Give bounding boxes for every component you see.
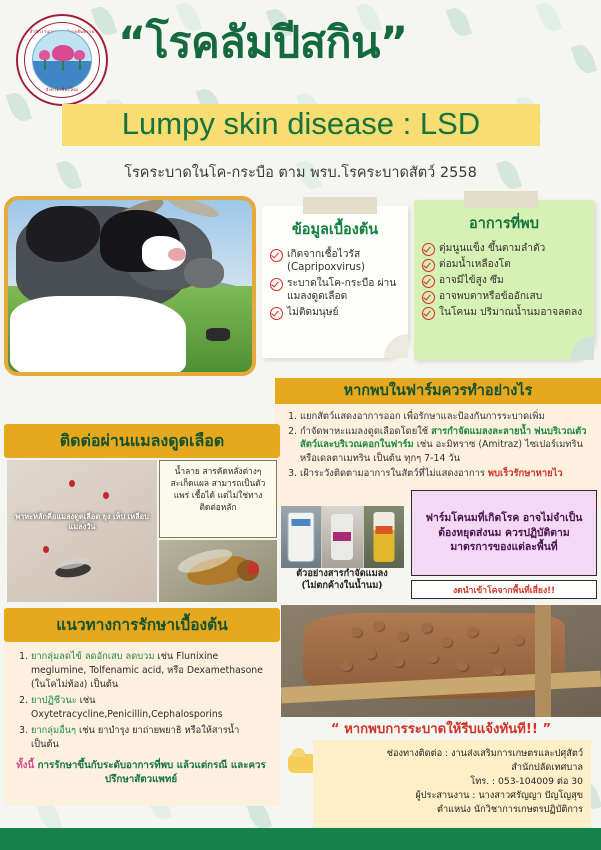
insecticide-bottle-icon bbox=[288, 512, 315, 562]
basic-info-heading: ข้อมูลเบื้องต้น bbox=[262, 218, 408, 241]
cattle-skin-fly-photo: พาหะหลักคือแมลงดูดเลือด ยุง เห็บ เหลือบ … bbox=[7, 460, 157, 602]
treatment-body: ยากลุ่มลดไข้ ลดอักเสบ ลดบวม เช่น Flunixi… bbox=[4, 642, 280, 806]
drug-group-label: ยากลุ่มลดไข้ ลดอักเสบ ลดบวม bbox=[31, 651, 154, 662]
list-item: ยาปฏิชีวนะ เช่น Oxytetracycline,Penicill… bbox=[31, 694, 270, 722]
step-tail: พบเร็วรักษาหายไว bbox=[488, 468, 563, 479]
list-item: ไม่ติดมนุษย์ bbox=[270, 306, 400, 319]
contact-line-4: ผู้ประสานงาน : นางสาวศรัญญา ปัญโญสุข bbox=[319, 789, 583, 803]
infographic-poster: สำนักงานเทศบาลตำบลสันทราย จังหวัดเชียงให… bbox=[0, 0, 601, 850]
insecticide-bottle-icon bbox=[373, 512, 394, 562]
list-item: ในโคนม ปริมาณน้ำนมอาจลดลง bbox=[422, 306, 586, 319]
tape-strip-icon bbox=[464, 191, 538, 208]
list-item-label: อาจมีไข้สูง ซึม bbox=[439, 275, 504, 286]
page-subtitle: โรคระบาดในโค-กระบือ ตาม พรบ.โรคระบาดสัตว… bbox=[0, 161, 601, 184]
list-item: อาจพบตาหรือข้ออักเสบ bbox=[422, 290, 586, 303]
skin-photo-caption: พาหะหลักคือแมลงดูดเลือด ยุง เห็บ เหลือบ … bbox=[11, 512, 153, 532]
list-item-label: อาจพบตาหรือข้ออักเสบ bbox=[439, 291, 542, 302]
drug-group-label: ยาปฏิชีวนะ bbox=[31, 695, 77, 706]
basic-info-card: ข้อมูลเบื้องต้น เกิดจากเชื้อไวรัส (Capri… bbox=[262, 206, 408, 358]
symptoms-heading: อาการที่พบ bbox=[414, 212, 594, 235]
check-circle-icon bbox=[422, 291, 435, 304]
milk-farm-warning-box: ฟาร์มโคนมที่เกิดโรค อาจไม่จำเป็นต้องหยุด… bbox=[411, 490, 597, 576]
tape-strip-icon bbox=[303, 197, 377, 214]
footnote-text: การรักษาขึ้นกับระดับอาการที่พบ แล้วแต่กร… bbox=[38, 760, 266, 785]
contact-value: งานส่งเสริมการเกษตรและปศุสัตว์ bbox=[448, 748, 583, 759]
list-item-label: ต่อมน้ำเหลืองโต bbox=[439, 259, 511, 270]
symptoms-card: อาการที่พบ ตุ่มนูนแข็ง ขึ้นตามลำตัว ต่อม… bbox=[414, 200, 594, 360]
step-text: กำจัดพาหะแมลงดูดเลือดโดยใช้ bbox=[300, 426, 431, 437]
import-ban-warning-strip: งดนำเข้าโคจากพื้นที่เสี่ยง!! bbox=[411, 580, 597, 599]
seal-bottom-text: จังหวัดเชียงใหม่ bbox=[25, 86, 99, 93]
insecticide-bottle-icon bbox=[331, 514, 353, 560]
folded-corner bbox=[384, 334, 408, 358]
page-title-thai: “โรคลัมปีสกิน” bbox=[118, 22, 588, 65]
check-circle-icon bbox=[422, 259, 435, 272]
list-item-label: ระบาดในโค-กระบือ ผ่านแมลงดูดเลือด bbox=[287, 278, 396, 302]
english-title-banner: Lumpy skin disease : LSD bbox=[62, 104, 540, 146]
lotus-icon bbox=[52, 45, 74, 61]
lotus-icon bbox=[74, 50, 85, 60]
list-item: เกิดจากเชื้อไวรัส (Capripoxvirus) bbox=[270, 248, 400, 274]
insect-transmission-block: พาหะหลักคือแมลงดูดเลือด ยุง เห็บ เหลือบ … bbox=[4, 458, 280, 604]
list-item: ยากลุ่มลดไข้ ลดอักเสบ ลดบวม เช่น Flunixi… bbox=[31, 650, 270, 692]
list-item: ต่อมน้ำเหลืองโต bbox=[422, 258, 586, 271]
step-text: แยกสัตว์แสดงอาการออก เพื่อรักษาและป้องกั… bbox=[300, 411, 545, 422]
buffalo-and-cow-photo bbox=[4, 196, 256, 376]
list-item: ยากลุ่มอื่นๆ เช่น ยาบำรุง ยาถ่ายพยาธิ หร… bbox=[31, 724, 270, 752]
poster-header: สำนักงานเทศบาลตำบลสันทราย จังหวัดเชียงให… bbox=[0, 0, 601, 186]
dairy-cow-illustration bbox=[10, 296, 186, 376]
coordinator-name: นางสาวศรัญญา ปัญโญสุข bbox=[475, 790, 583, 801]
list-item: ระบาดในโค-กระบือ ผ่านแมลงดูดเลือด bbox=[270, 277, 400, 303]
farm-guidance-list: แยกสัตว์แสดงอาการออก เพื่อรักษาและป้องกั… bbox=[284, 410, 594, 480]
contact-line-2: สำนักปลัดเทศบาล bbox=[319, 761, 583, 775]
check-circle-icon bbox=[270, 249, 283, 262]
insecticide-sample-caption: ตัวอย่างสารกำจัดแมลง (ไม่ตกค้างในน้ำนม) bbox=[276, 568, 408, 592]
saliva-transmission-note: น้ำลาย สารคัดหลั่งต่างๆ สะเก็ดแผล สามารถ… bbox=[159, 460, 277, 538]
treatment-heading: แนวทางการรักษาเบื้องต้น bbox=[4, 608, 280, 642]
check-circle-icon bbox=[422, 275, 435, 288]
list-item-label: ไม่ติดมนุษย์ bbox=[287, 307, 338, 318]
contact-label: ช่องทางติดต่อ : bbox=[387, 748, 448, 759]
check-circle-icon bbox=[270, 278, 283, 291]
insect-transmission-heading: ติดต่อผ่านแมลงดูดเลือด bbox=[4, 424, 280, 458]
basic-info-list: เกิดจากเชื้อไวรัส (Capripoxvirus) ระบาดใ… bbox=[262, 248, 408, 319]
list-item-label: เกิดจากเชื้อไวรัส (Capripoxvirus) bbox=[287, 249, 365, 273]
treatment-footnote: ทั้งนี้ การรักษาขึ้นกับระดับอาการที่พบ แ… bbox=[12, 759, 270, 787]
step-text: เฝ้าระวังติดตามอาการในสัตว์ที่ไม่แสดงอาก… bbox=[300, 468, 488, 479]
contact-info-box: ช่องทางติดต่อ : งานส่งเสริมการเกษตรและปศ… bbox=[313, 740, 591, 828]
check-circle-icon bbox=[422, 243, 435, 256]
farm-guidance-heading: หากพบในฟาร์มควรทำอย่างไร bbox=[275, 378, 601, 404]
footnote-prefix: ทั้งนี้ bbox=[16, 760, 37, 771]
list-item: อาจมีไข้สูง ซึม bbox=[422, 274, 586, 287]
caption-line-2: (ไม่ตกค้างในน้ำนม) bbox=[276, 580, 408, 592]
folded-corner bbox=[570, 336, 594, 360]
contact-line-1: ช่องทางติดต่อ : งานส่งเสริมการเกษตรและปศ… bbox=[319, 747, 583, 761]
report-outbreak-headline: “ หากพบการระบาดให้รีบแจ้งทันที!! ” bbox=[281, 718, 601, 739]
list-item: แยกสัตว์แสดงอาการออก เพื่อรักษาและป้องกั… bbox=[300, 410, 594, 424]
treatment-list: ยากลุ่มลดไข้ ลดอักเสบ ลดบวม เช่น Flunixi… bbox=[12, 650, 270, 752]
lotus-icon bbox=[39, 50, 50, 60]
coordinator-position: ตำแหน่ง นักวิชาการเกษตรปฏิบัติการ bbox=[319, 803, 583, 817]
check-circle-icon bbox=[422, 307, 435, 320]
list-item: กำจัดพาหะแมลงดูดเลือดโดยใช้ สารกำจัดแมลง… bbox=[300, 425, 594, 466]
stable-fly-closeup-photo bbox=[159, 540, 277, 602]
list-item-label: ตุ่มนูนแข็ง ขึ้นตามลำตัว bbox=[439, 243, 545, 254]
seal-emblem bbox=[32, 30, 92, 90]
list-item: ตุ่มนูนแข็ง ขึ้นตามลำตัว bbox=[422, 242, 586, 255]
municipality-seal-logo: สำนักงานเทศบาลตำบลสันทราย จังหวัดเชียงให… bbox=[16, 14, 108, 106]
insecticide-sample-photos bbox=[281, 506, 404, 568]
drug-group-label: ยากลุ่มอื่นๆ bbox=[31, 725, 76, 736]
caption-line-1: ตัวอย่างสารกำจัดแมลง bbox=[276, 568, 408, 580]
page-title-english: Lumpy skin disease : LSD bbox=[62, 107, 540, 141]
symptoms-list: ตุ่มนูนแข็ง ขึ้นตามลำตัว ต่อมน้ำเหลืองโต… bbox=[414, 242, 594, 319]
check-circle-icon bbox=[270, 307, 283, 320]
coordinator-label: ผู้ประสานงาน : bbox=[415, 790, 475, 801]
list-item-label: ในโคนม ปริมาณน้ำนมอาจลดลง bbox=[439, 307, 582, 318]
fly-eye bbox=[247, 562, 259, 575]
footer-bar bbox=[0, 828, 601, 850]
contact-phone[interactable]: โทร. : 053-104009 ต่อ 30 bbox=[319, 775, 583, 789]
list-item: เฝ้าระวังติดตามอาการในสัตว์ที่ไม่แสดงอาก… bbox=[300, 467, 594, 481]
lumpy-lesion-cow-photo bbox=[281, 605, 601, 717]
